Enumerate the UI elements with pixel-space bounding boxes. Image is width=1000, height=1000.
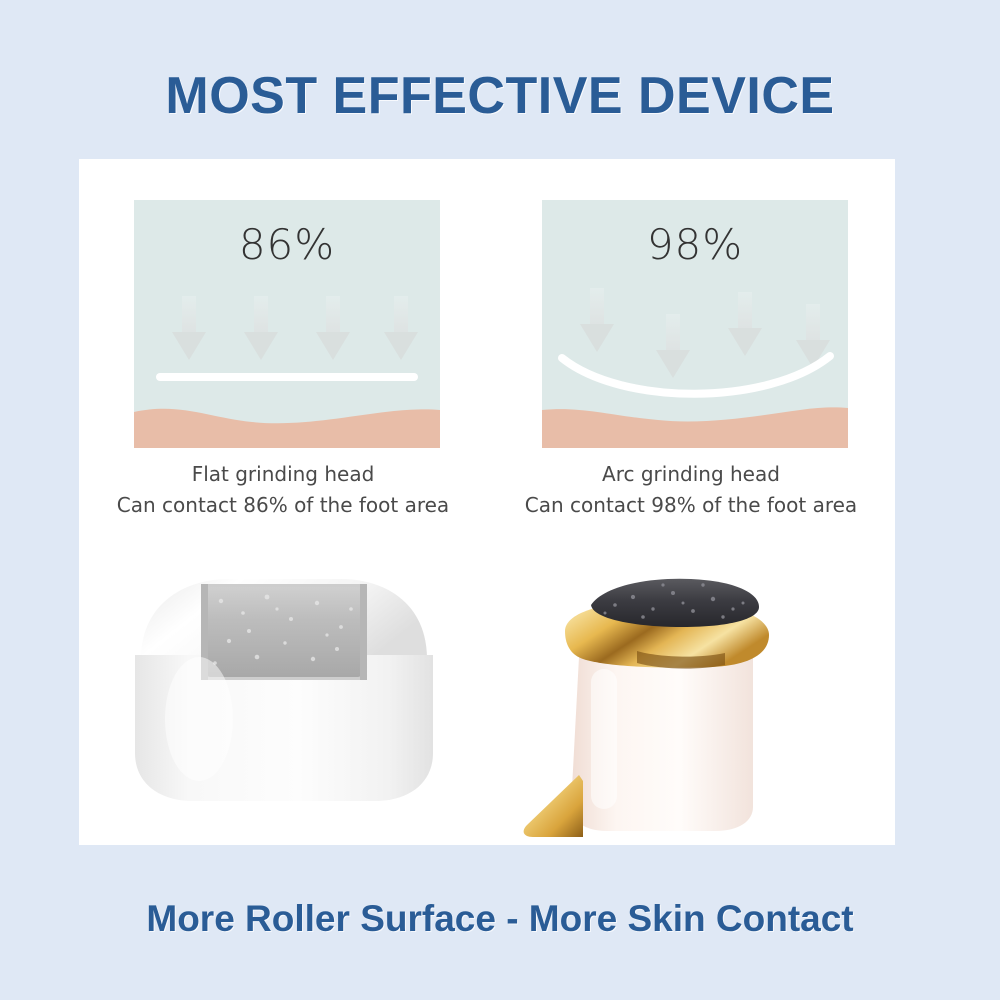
arrow-shaft bbox=[666, 314, 680, 352]
arrow-head bbox=[580, 324, 614, 352]
arrow-shaft bbox=[254, 296, 268, 334]
caption-description-arc: Can contact 98% of the foot area bbox=[487, 490, 895, 521]
comparison-card: 86% bbox=[79, 159, 895, 845]
caption-flat: Flat grinding head Can contact 86% of th… bbox=[79, 459, 487, 521]
arrow-head bbox=[172, 332, 206, 360]
product-photo-arc bbox=[487, 539, 895, 839]
arrow-shaft bbox=[590, 288, 604, 326]
arrow-head bbox=[384, 332, 418, 360]
diagram-panel-arc: 98% bbox=[542, 200, 848, 448]
arrow-head bbox=[244, 332, 278, 360]
white-flat-roller-foot-file-icon bbox=[79, 539, 487, 839]
comparison-column-flat: 86% bbox=[79, 159, 487, 845]
arrow-shaft bbox=[394, 296, 408, 334]
skin-band-flat bbox=[134, 396, 440, 448]
caption-heading-flat: Flat grinding head bbox=[79, 459, 487, 490]
arrow-shaft bbox=[806, 304, 820, 342]
percent-value-arc: 98% bbox=[542, 220, 848, 269]
caption-description-flat: Can contact 86% of the foot area bbox=[79, 490, 487, 521]
page-title: MOST EFFECTIVE DEVICE bbox=[0, 66, 1000, 126]
diagram-panel-flat: 86% bbox=[134, 200, 440, 448]
comparison-column-arc: 98% bbox=[487, 159, 895, 845]
product-photo-flat bbox=[79, 539, 487, 839]
arrow-head bbox=[316, 332, 350, 360]
comparison-columns: 86% bbox=[79, 159, 895, 845]
footer-tagline: More Roller Surface - More Skin Contact bbox=[0, 898, 1000, 940]
gold-arc-roller-foot-file-icon bbox=[487, 539, 895, 839]
skin-band-arc bbox=[542, 396, 848, 448]
arrow-shaft bbox=[738, 292, 752, 330]
caption-arc: Arc grinding head Can contact 98% of the… bbox=[487, 459, 895, 521]
caption-heading-arc: Arc grinding head bbox=[487, 459, 895, 490]
contact-line-flat bbox=[156, 373, 418, 381]
arrow-shaft bbox=[326, 296, 340, 334]
arrow-shaft bbox=[182, 296, 196, 334]
percent-value-flat: 86% bbox=[134, 220, 440, 269]
